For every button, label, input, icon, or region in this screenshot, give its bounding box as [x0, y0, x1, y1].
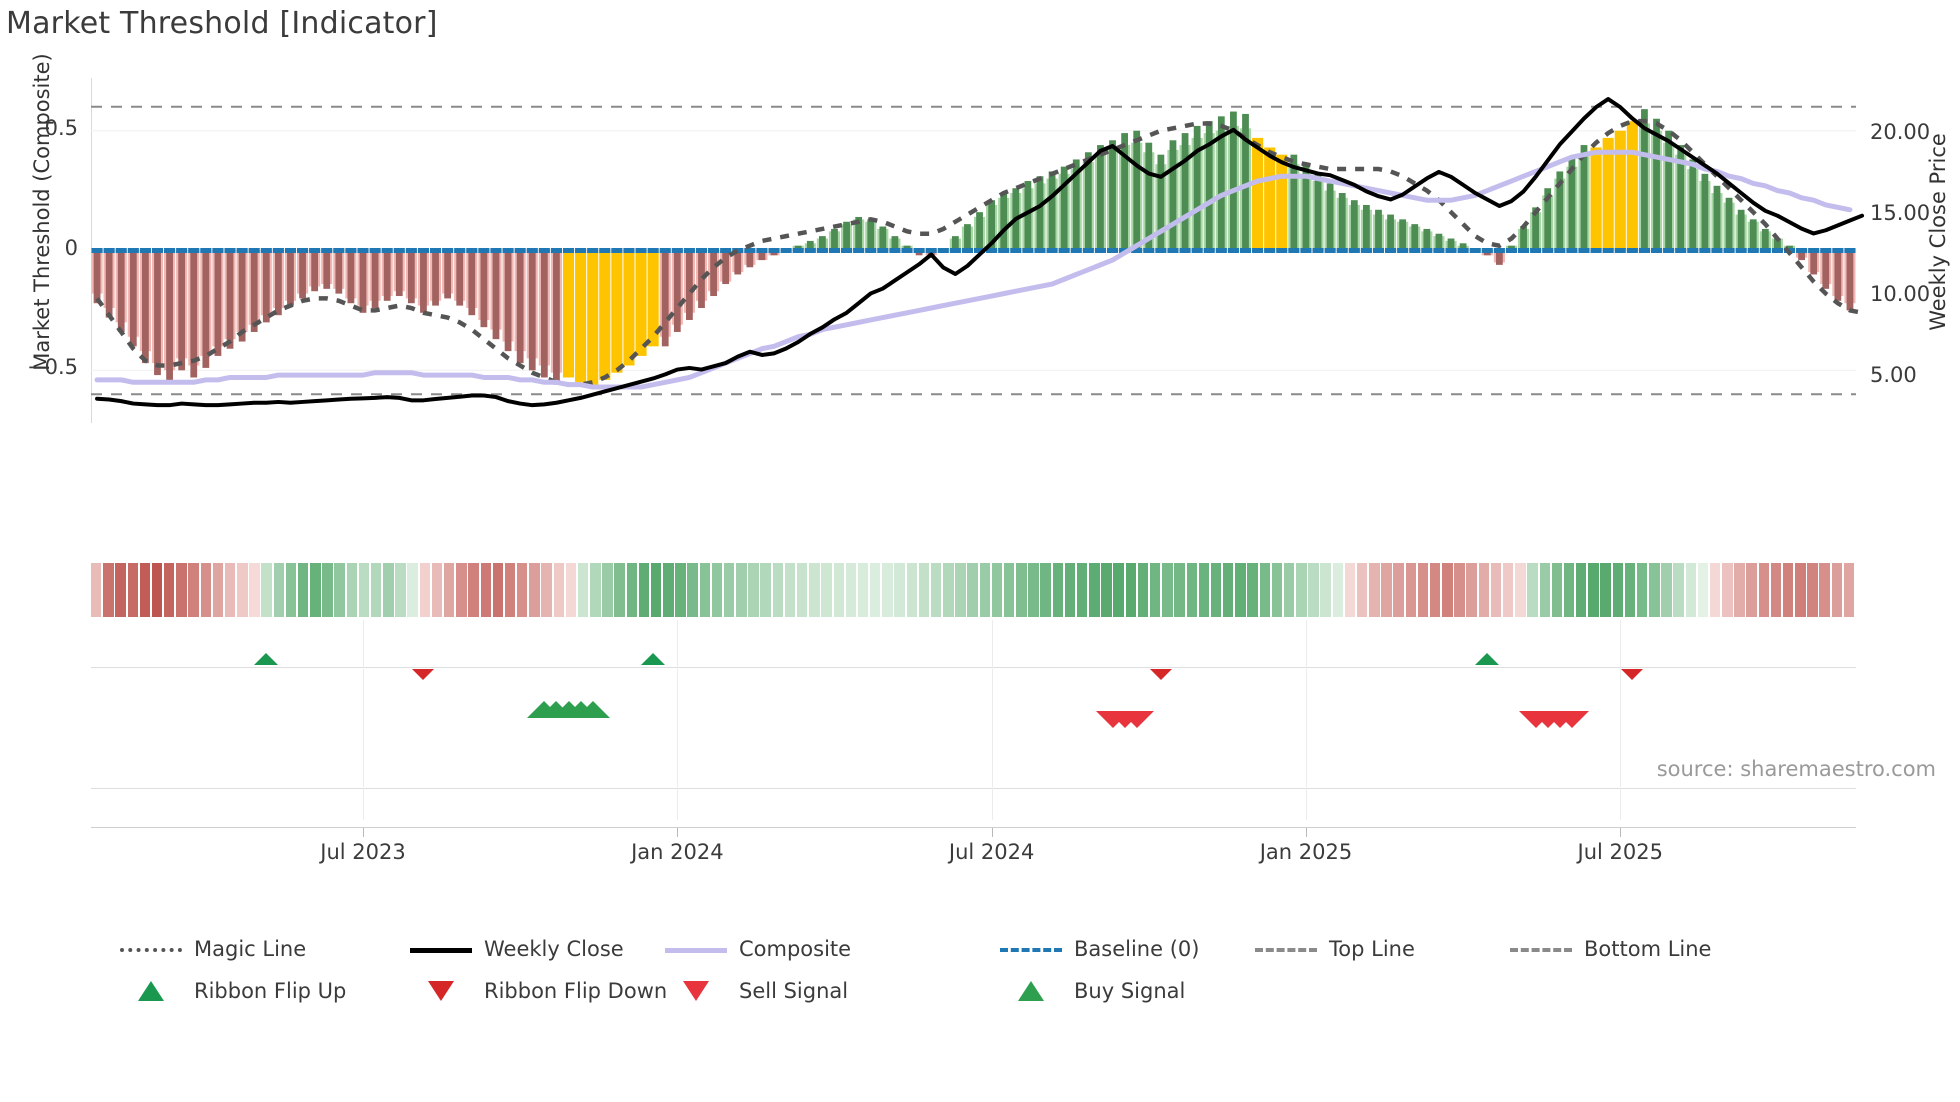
ribbon-cell [882, 563, 892, 617]
ribbon-cell [1637, 563, 1647, 617]
ribbon-cell [359, 563, 369, 617]
x-axis-line [91, 827, 1856, 828]
ribbon-cell [870, 563, 880, 617]
x-tick [992, 828, 993, 837]
ribbon-cell [1807, 563, 1817, 617]
x-gridline-3 [1306, 620, 1307, 820]
ribbon-cell [517, 563, 527, 617]
ribbon-cell [1393, 563, 1403, 617]
chart-root: Market Threshold [Indicator] Market Thre… [0, 0, 1960, 1102]
legend-item-composite[interactable]: Composite [665, 928, 851, 970]
ribbon-cell [1345, 563, 1355, 617]
ribbon-cell [1479, 563, 1489, 617]
ribbon-cell [1138, 563, 1148, 617]
legend-label: Buy Signal [1074, 979, 1185, 1003]
ribbon-cell [1759, 563, 1769, 617]
y-axis-right-label: Weekly Close Price [1926, 32, 1950, 432]
ribbon-cell [1844, 563, 1854, 617]
x-tick [677, 828, 678, 837]
ribbon-flip-down-marker [412, 669, 434, 680]
legend-item-ribbon-flip-up[interactable]: Ribbon Flip Up [120, 970, 346, 1012]
ribbon-cell [821, 563, 831, 617]
ribbon-flip-up-marker [1475, 653, 1499, 665]
x-gridline-0 [363, 620, 364, 820]
ribbon-cell [1527, 563, 1537, 617]
ribbon-cell [1454, 563, 1464, 617]
ribbon-cell [1418, 563, 1428, 617]
sell-signal-marker [1555, 711, 1589, 728]
ribbon-cell [1247, 563, 1257, 617]
ribbon-cell [1101, 563, 1111, 617]
ribbon-cell [505, 563, 515, 617]
ribbon-cell [1126, 563, 1136, 617]
x-gridline-1 [677, 620, 678, 820]
page-title: Market Threshold [Indicator] [6, 6, 438, 41]
ribbon-cell [1540, 563, 1550, 617]
ribbon-cell [249, 563, 259, 617]
ribbon-cell [1722, 563, 1732, 617]
ribbon-cell [334, 563, 344, 617]
ribbon-cell [1235, 563, 1245, 617]
ribbon-cell [1625, 563, 1635, 617]
ribbon-cell [894, 563, 904, 617]
x-tick-label: Jan 2024 [631, 840, 724, 864]
sell-signal-marker [1120, 711, 1154, 728]
ribbon-cell [1016, 563, 1026, 617]
ribbon-cell [1053, 563, 1063, 617]
ribbon-cell [1199, 563, 1209, 617]
ribbon-cell [103, 563, 113, 617]
legend-item-bottom-line[interactable]: Bottom Line [1510, 928, 1711, 970]
ribbon-cell [578, 563, 588, 617]
ribbon-cell [943, 563, 953, 617]
ribbon-cell [627, 563, 637, 617]
ribbon-cell [347, 563, 357, 617]
ribbon-cell [1442, 563, 1452, 617]
legend-label: Bottom Line [1584, 937, 1711, 961]
ribbon-cell [1381, 563, 1391, 617]
ribbon-cell [639, 563, 649, 617]
ribbon-cell [1223, 563, 1233, 617]
triangle-down-icon [665, 981, 727, 1001]
solid-line-swatch [665, 939, 727, 959]
ribbon-cell [1783, 563, 1793, 617]
ribbon-cell [1284, 563, 1294, 617]
ribbon-cell [225, 563, 235, 617]
ribbon-flip-down-marker [1150, 669, 1172, 680]
main-plot-area [91, 78, 1856, 423]
legend-item-top-line[interactable]: Top Line [1255, 928, 1415, 970]
y-tick-right: 15.00 [1870, 201, 1930, 225]
ribbon-cell [1661, 563, 1671, 617]
y-tick-right: 20.00 [1870, 120, 1930, 144]
ribbon-cell [213, 563, 223, 617]
ribbon-cell [481, 563, 491, 617]
ribbon-cell [395, 563, 405, 617]
ribbon-cell [1430, 563, 1440, 617]
ribbon-cell [1028, 563, 1038, 617]
y-tick-left: −0.5 [0, 355, 78, 379]
ribbon-cell [1576, 563, 1586, 617]
ribbon-cell [675, 563, 685, 617]
ribbon-cell [980, 563, 990, 617]
ribbon-cell [322, 563, 332, 617]
ribbon-cell [760, 563, 770, 617]
ribbon-cell [1649, 563, 1659, 617]
x-tick [1306, 828, 1307, 837]
ribbon-cell [1564, 563, 1574, 617]
ribbon-cell [541, 563, 551, 617]
ribbon-cell [1710, 563, 1720, 617]
chart-legend: Magic LineWeekly CloseCompositeBaseline … [120, 928, 1880, 1012]
ribbon-cell [1260, 563, 1270, 617]
ribbon-cell [590, 563, 600, 617]
ribbon-cell [797, 563, 807, 617]
source-note: source: sharemaestro.com [1657, 757, 1936, 781]
ribbon-cell [1491, 563, 1501, 617]
legend-label: Baseline (0) [1074, 937, 1199, 961]
ribbon-cell [164, 563, 174, 617]
y-axis-left: Market Threshold (Composite) [2, 80, 42, 480]
ribbon-cell [1515, 563, 1525, 617]
ribbon-flip-up-marker [641, 653, 665, 665]
ribbon-cell [456, 563, 466, 617]
ribbon-cell [858, 563, 868, 617]
ribbon-cell [736, 563, 746, 617]
ribbon-cell [1746, 563, 1756, 617]
signal-marker-panel [91, 620, 1856, 820]
x-gridline-2 [992, 620, 993, 820]
ribbon-cell [1357, 563, 1367, 617]
legend-row-2: Ribbon Flip UpRibbon Flip DownSell Signa… [120, 970, 1880, 1012]
ribbon-cell [651, 563, 661, 617]
ribbon-cell [261, 563, 271, 617]
ribbon-cell [748, 563, 758, 617]
ribbon-cell [1308, 563, 1318, 617]
y-tick-right: 5.00 [1870, 363, 1917, 387]
ribbon-cell [274, 563, 284, 617]
ribbon-cell [310, 563, 320, 617]
ribbon-cell [286, 563, 296, 617]
ribbon-cell [1673, 563, 1683, 617]
x-tick-label: Jul 2023 [320, 840, 405, 864]
ribbon-cell [1320, 563, 1330, 617]
ribbon-cell [919, 563, 929, 617]
ribbon-cell [687, 563, 697, 617]
ribbon-cell [1734, 563, 1744, 617]
dashed-line-swatch [1510, 939, 1572, 959]
ribbon-cell [1211, 563, 1221, 617]
dashed-line-swatch [1000, 939, 1062, 959]
ribbon-cell [566, 563, 576, 617]
dotted-line-swatch [120, 939, 182, 959]
legend-label: Weekly Close [484, 937, 624, 961]
legend-label: Magic Line [194, 937, 306, 961]
ribbon-cell [1077, 563, 1087, 617]
ribbon-cell [1503, 563, 1513, 617]
x-tick-label: Jul 2025 [1578, 840, 1663, 864]
ribbon-cell [712, 563, 722, 617]
y-tick-right: 10.00 [1870, 282, 1930, 306]
ribbon-cell [554, 563, 564, 617]
ribbon-cell [1588, 563, 1598, 617]
ribbon-cell [1187, 563, 1197, 617]
ribbon-cell [846, 563, 856, 617]
ribbon-cell [237, 563, 247, 617]
y-tick-left: 0 [0, 236, 78, 260]
ribbon-cell [529, 563, 539, 617]
dashed-line-swatch [1255, 939, 1317, 959]
ribbon-cell [1552, 563, 1562, 617]
plot-svg [91, 78, 1856, 423]
legend-label: Composite [739, 937, 851, 961]
ribbon-cell [1150, 563, 1160, 617]
triangle-up-icon [120, 981, 182, 1001]
ribbon-cell [1369, 563, 1379, 617]
ribbon-cell [201, 563, 211, 617]
flip-baseline [91, 667, 1856, 668]
ribbon-cell [931, 563, 941, 617]
ribbon-cell [91, 563, 101, 617]
ribbon-cell [1819, 563, 1829, 617]
ribbon-cell [700, 563, 710, 617]
legend-label: Top Line [1329, 937, 1415, 961]
ribbon-cell [1698, 563, 1708, 617]
legend-item-weekly-close[interactable]: Weekly Close [410, 928, 624, 970]
legend-item-magic-line[interactable]: Magic Line [120, 928, 306, 970]
legend-label: Ribbon Flip Down [484, 979, 667, 1003]
ribbon-cell [188, 563, 198, 617]
legend-item-ribbon-flip-down[interactable]: Ribbon Flip Down [410, 970, 667, 1012]
ribbon-cell [1296, 563, 1306, 617]
ribbon-cell [493, 563, 503, 617]
ribbon-cell [1113, 563, 1123, 617]
triangle-down-icon [410, 981, 472, 1001]
ribbon-cell [371, 563, 381, 617]
ribbon-cell [298, 563, 308, 617]
legend-item-baseline-0[interactable]: Baseline (0) [1000, 928, 1199, 970]
x-tick [363, 828, 364, 837]
ribbon-cell [1174, 563, 1184, 617]
ribbon-cell [1040, 563, 1050, 617]
ribbon-cell [115, 563, 125, 617]
ribbon-cell [1795, 563, 1805, 617]
ribbon-cell [152, 563, 162, 617]
buy-signal-marker [576, 701, 610, 718]
x-gridline-4 [1620, 620, 1621, 820]
ribbon-flip-down-marker [1621, 669, 1643, 680]
ribbon-cell [1004, 563, 1014, 617]
signal-baseline-lower [91, 788, 1856, 789]
ribbon-cell [1771, 563, 1781, 617]
ribbon-cell [1466, 563, 1476, 617]
ribbon-cell [407, 563, 417, 617]
triangle-up-icon [1000, 981, 1062, 1001]
ribbon-flip-up-marker [254, 653, 278, 665]
x-tick [1620, 828, 1621, 837]
legend-row-1: Magic LineWeekly CloseCompositeBaseline … [120, 928, 1880, 970]
ribbon-cell [444, 563, 454, 617]
ribbon-cell [834, 563, 844, 617]
ribbon-cell [724, 563, 734, 617]
ribbon-cell [1272, 563, 1282, 617]
ribbon-cell [1832, 563, 1842, 617]
ribbon-cell [1162, 563, 1172, 617]
ribbon-cell [967, 563, 977, 617]
ribbon-cell [1089, 563, 1099, 617]
ribbon-cell [140, 563, 150, 617]
ribbon-cell [420, 563, 430, 617]
legend-label: Ribbon Flip Up [194, 979, 346, 1003]
ribbon-cell [468, 563, 478, 617]
ribbon-cell [1406, 563, 1416, 617]
y-tick-left: 0.5 [0, 116, 78, 140]
ribbon-cell [176, 563, 186, 617]
ribbon-cell [1065, 563, 1075, 617]
ribbon-cell [992, 563, 1002, 617]
ribbon-cell [602, 563, 612, 617]
ribbon-cell [785, 563, 795, 617]
x-tick-label: Jan 2025 [1260, 840, 1353, 864]
ribbon-cell [773, 563, 783, 617]
legend-item-sell-signal[interactable]: Sell Signal [665, 970, 848, 1012]
ribbon-cell [614, 563, 624, 617]
ribbon-cell [955, 563, 965, 617]
ribbon-cell [432, 563, 442, 617]
ribbon-cell [1613, 563, 1623, 617]
ribbon-cell [1333, 563, 1343, 617]
solid-line-swatch [410, 939, 472, 959]
legend-label: Sell Signal [739, 979, 848, 1003]
ribbon-cell [809, 563, 819, 617]
ribbon-cell [1600, 563, 1610, 617]
ribbon-cell [907, 563, 917, 617]
ribbon-cell [663, 563, 673, 617]
ribbon-cell [128, 563, 138, 617]
x-tick-label: Jul 2024 [949, 840, 1034, 864]
ribbon-cell [383, 563, 393, 617]
ribbon-cell [1686, 563, 1696, 617]
legend-item-buy-signal[interactable]: Buy Signal [1000, 970, 1185, 1012]
ribbon-heatmap-strip [91, 563, 1856, 617]
